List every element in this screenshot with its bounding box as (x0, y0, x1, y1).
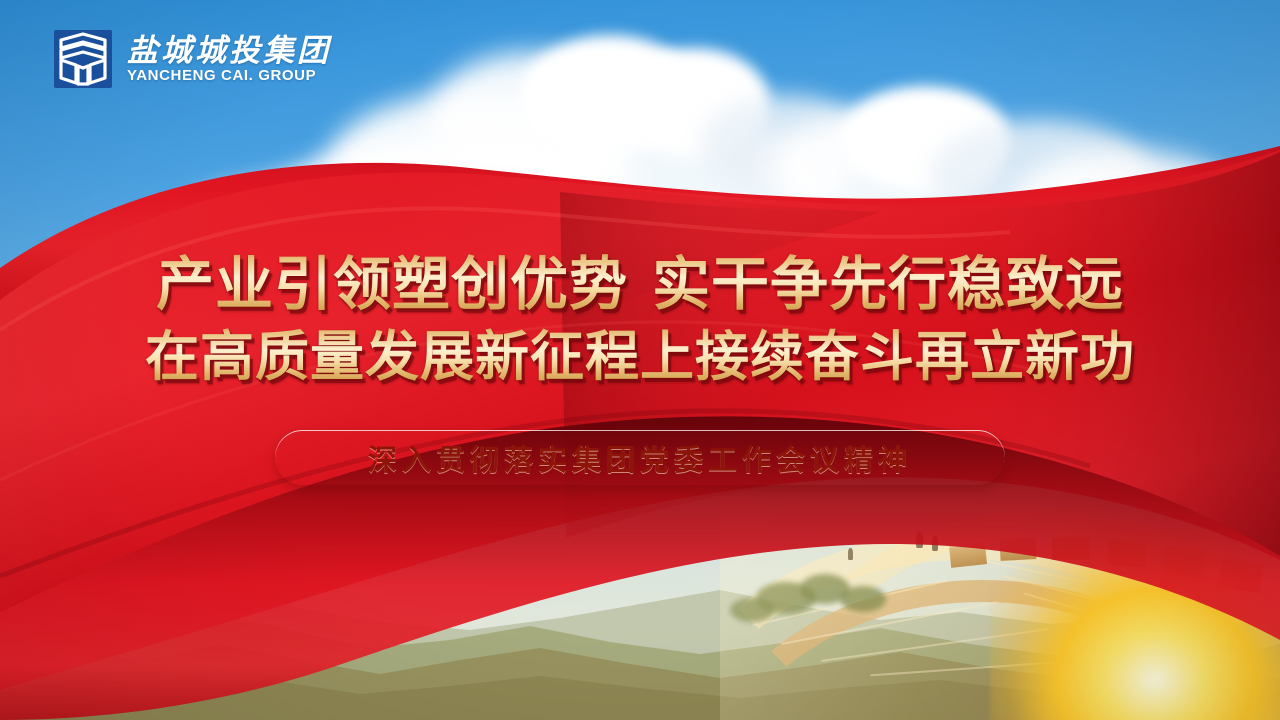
brand-text: 盐城城投集团 YANCHENG CAI. GROUP (127, 35, 331, 84)
subtitle-banner-wrap: 深入贯彻落实集团党委工作会议精神 (0, 430, 1280, 485)
cube-logo-icon (52, 28, 114, 90)
great-wall-illustration (720, 470, 1280, 720)
brand-name-cn: 盐城城投集团 (127, 35, 331, 68)
brand-logo[interactable]: 盐城城投集团 YANCHENG CAI. GROUP (52, 28, 331, 90)
subtitle-banner-text: 深入贯彻落实集团党委工作会议精神 (368, 437, 912, 479)
subtitle-banner[interactable]: 深入贯彻落实集团党委工作会议精神 (275, 430, 1005, 485)
sun-glow-small (1075, 623, 1225, 720)
brand-name-en: YANCHENG CAI. GROUP (127, 68, 331, 83)
poster-canvas: 盐城城投集团 YANCHENG CAI. GROUP 产业引领塑创优势实干争先行… (0, 0, 1280, 720)
